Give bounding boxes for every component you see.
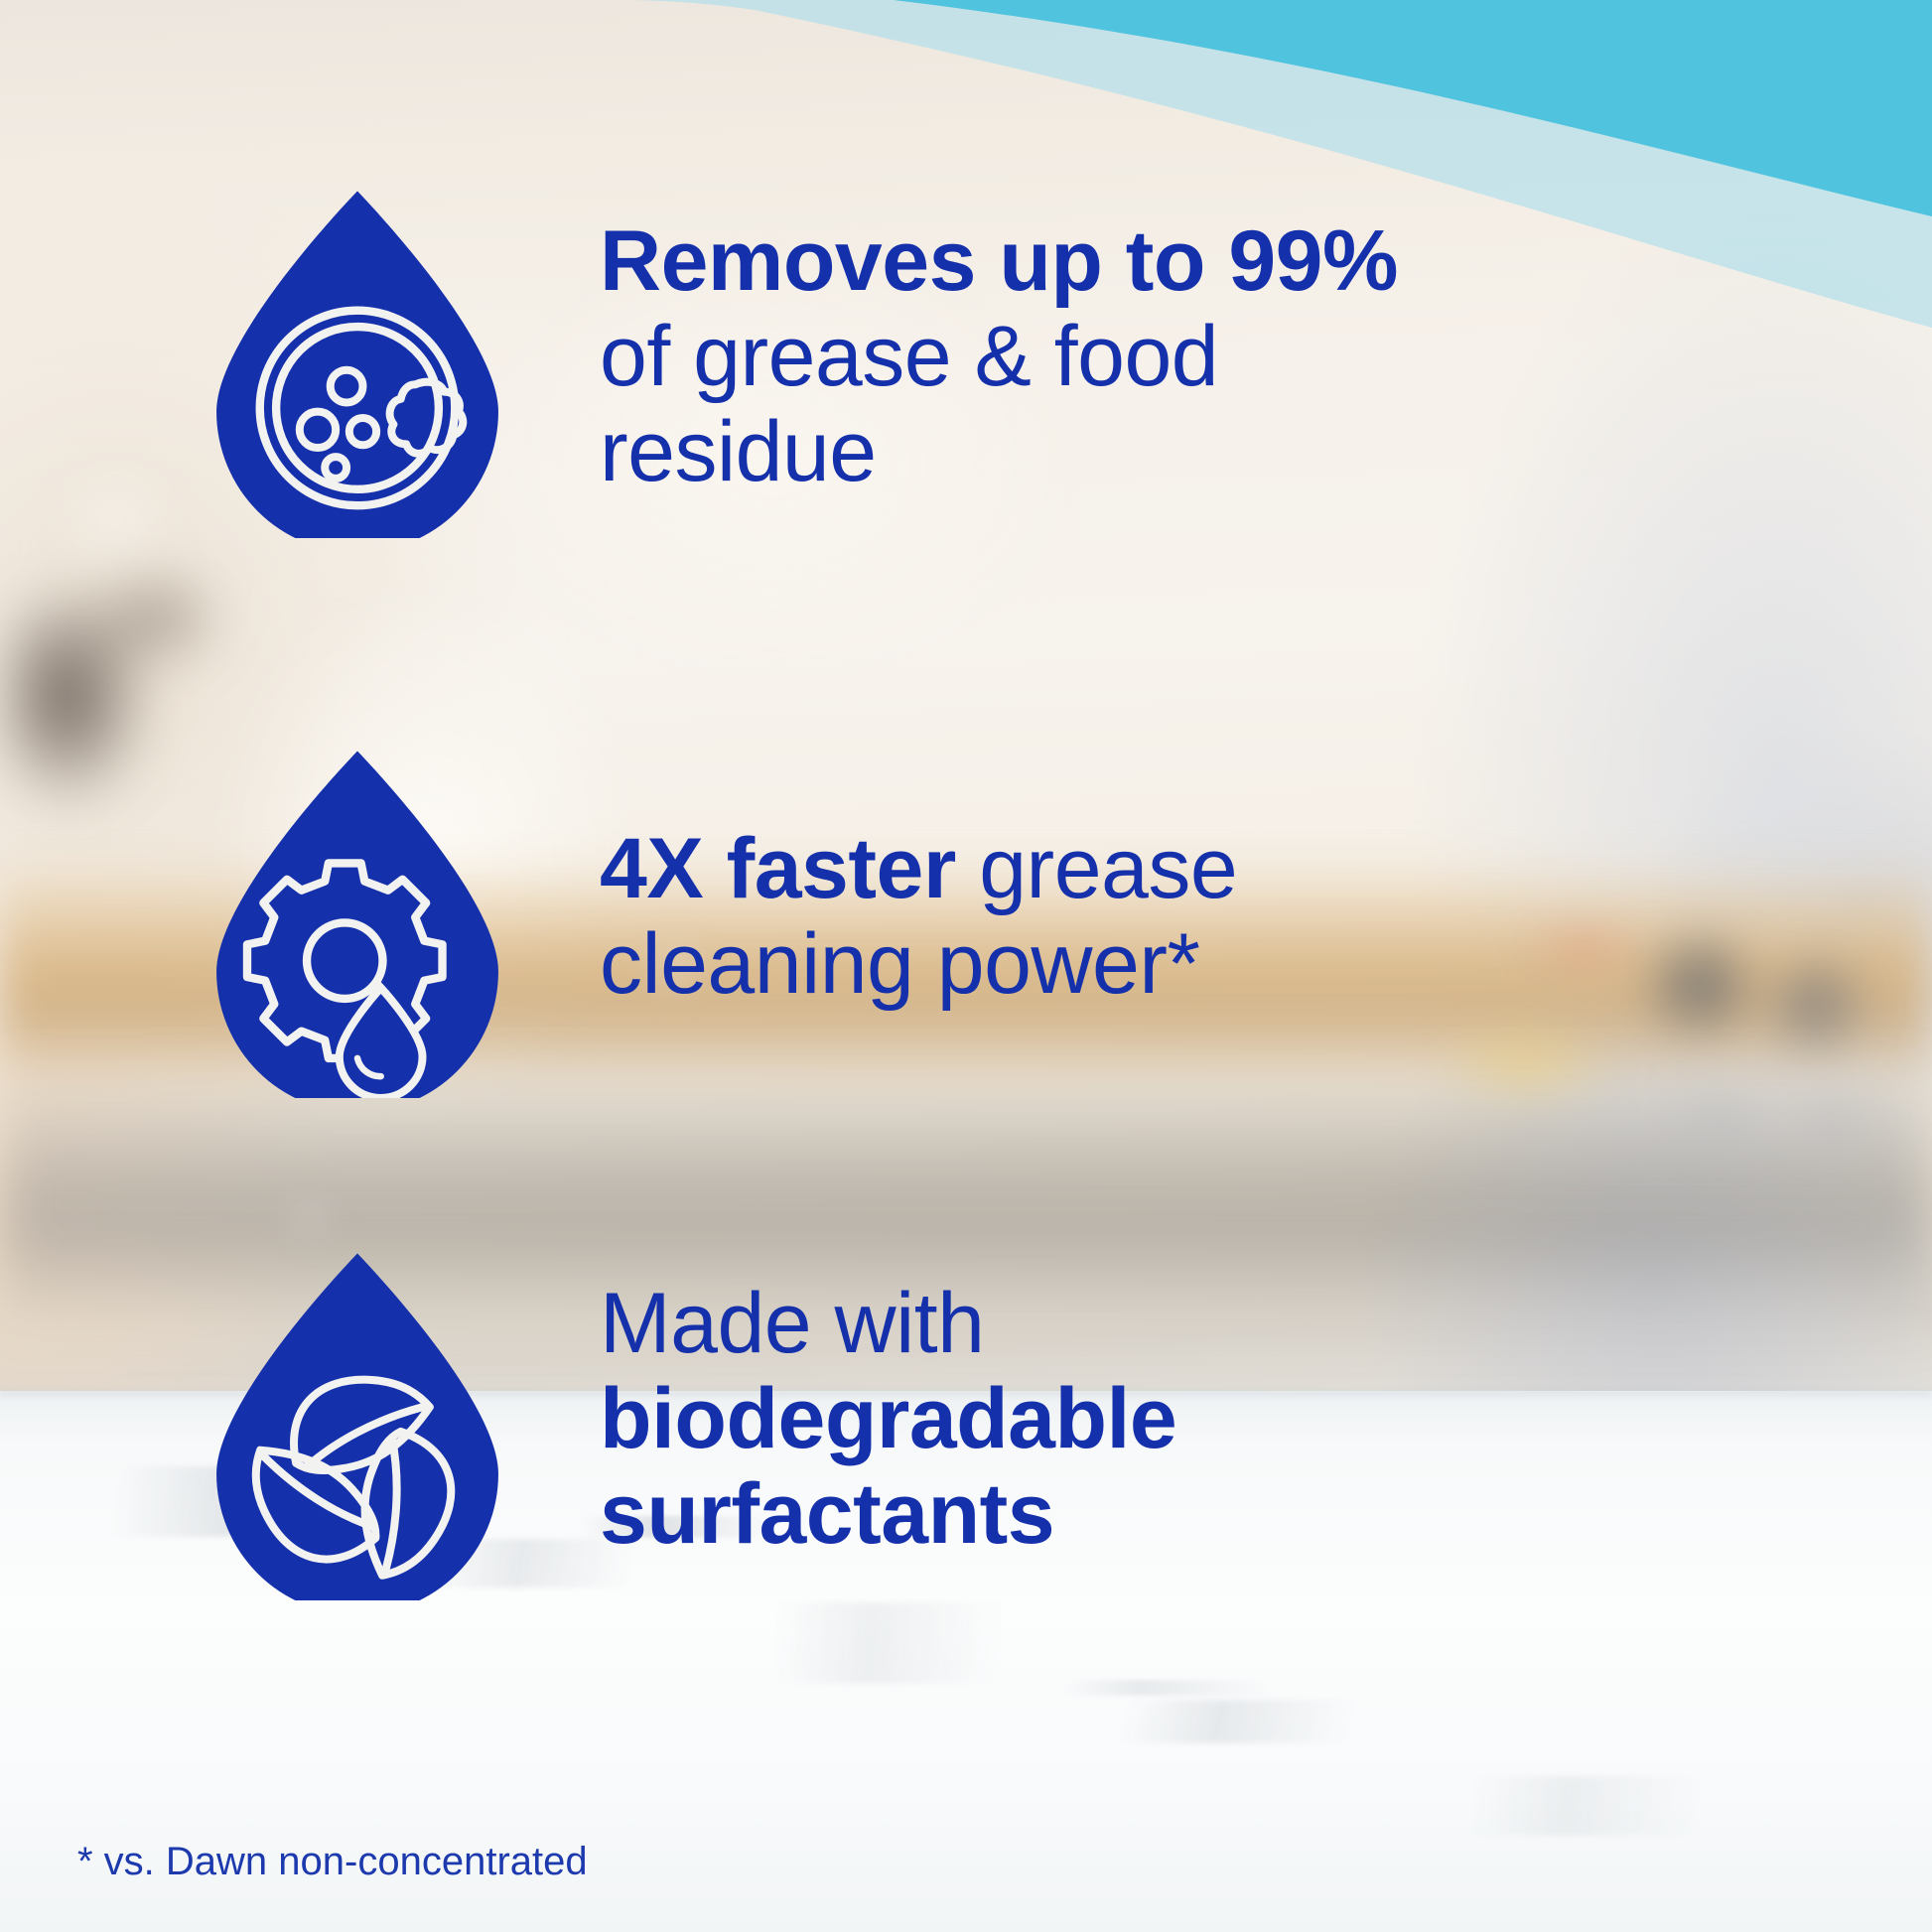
benefit-text-3: Made with biodegradable surfactants <box>600 1277 1473 1563</box>
recycling-leaves-icon <box>177 1239 538 1600</box>
benefit-row-2: 4X faster grease cleaning power* <box>177 737 1473 1098</box>
gear-with-droplet-icon <box>177 737 538 1098</box>
benefit-text-1-regular: of grease & food residue <box>600 309 1218 499</box>
infographic-canvas: Removes up to 99% of grease & food resid… <box>0 0 1932 1932</box>
recycling-leaves-icon-svg <box>177 1239 538 1600</box>
dish-with-bubbles-icon-svg <box>177 177 538 538</box>
benefit-text-1: Removes up to 99% of grease & food resid… <box>600 214 1473 500</box>
benefit-row-1: Removes up to 99% of grease & food resid… <box>177 177 1473 538</box>
benefits-list: Removes up to 99% of grease & food resid… <box>0 0 1932 1932</box>
gear-with-droplet-icon-svg <box>177 737 538 1098</box>
benefit-text-2-bold: 4X faster <box>600 821 956 916</box>
benefit-text-2: 4X faster grease cleaning power* <box>600 822 1473 1013</box>
benefit-text-3-bold: biodegradable surfactants <box>600 1371 1176 1562</box>
benefit-text-1-bold: Removes up to 99% <box>600 213 1398 309</box>
benefit-row-3: Made with biodegradable surfactants <box>177 1239 1473 1600</box>
dish-with-bubbles-icon <box>177 177 538 538</box>
benefit-text-3-regular: Made with <box>600 1276 984 1371</box>
footnote-text: * vs. Dawn non-concentrated <box>77 1840 588 1884</box>
